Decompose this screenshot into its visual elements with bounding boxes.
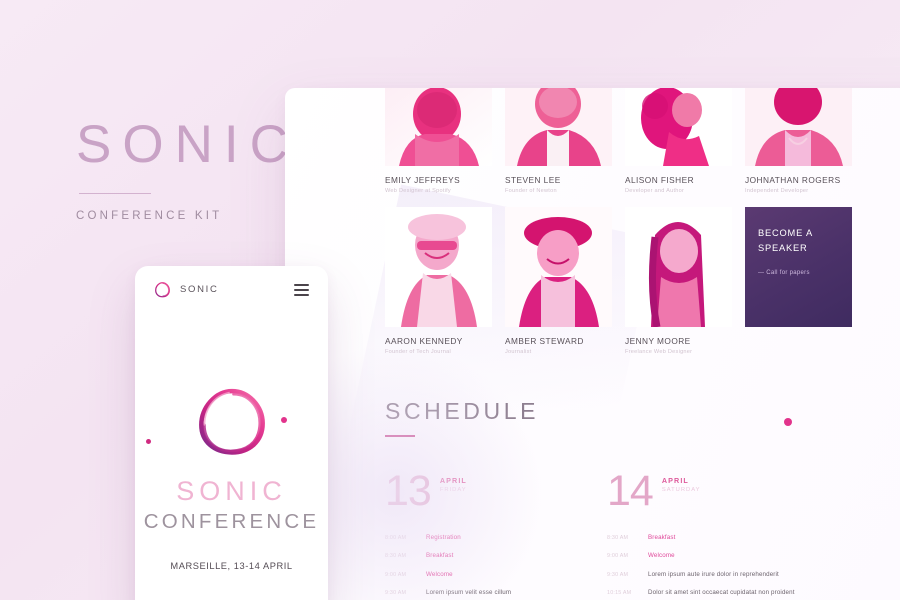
speaker-photo <box>385 207 492 327</box>
speaker-photo <box>745 88 852 166</box>
phone-hero-location: MARSEILLE, 13-14 APRIL <box>135 561 328 571</box>
desktop-mockup-panel: EMILY JEFFREYS Web Designer at Spotify S… <box>285 88 900 600</box>
schedule-day-header: 13 APRIL FRIDAY <box>385 472 610 512</box>
schedule-item-time: 9:30 AM <box>385 590 426 596</box>
speaker-card[interactable]: JOHNATHAN ROGERS Independent Developer <box>745 88 852 194</box>
brand-title: SONIC <box>76 118 316 171</box>
brand-divider <box>79 193 151 194</box>
speakers-row-2: AARON KENNEDY Founder of Tech Journal AM… <box>385 207 900 355</box>
phone-hero-title: SONIC CONFERENCE <box>135 478 328 534</box>
brand-block: SONIC CONFERENCE KIT <box>76 118 316 222</box>
speaker-role: Freelance Web Designer <box>625 349 732 355</box>
speaker-name: AARON KENNEDY <box>385 336 492 346</box>
sonic-ring-large-icon <box>193 385 271 457</box>
speaker-name: JENNY MOORE <box>625 336 732 346</box>
schedule-day-number: 14 <box>607 472 653 512</box>
schedule-item-title: Lorem ipsum aute irure dolor in reprehen… <box>648 571 779 578</box>
schedule-section: SCHEDULE 13 APRIL FRIDAY 8:00 AM Registr… <box>385 398 900 600</box>
schedule-day: 13 APRIL FRIDAY 8:00 AM Registration 8:3… <box>385 472 610 600</box>
hamburger-menu-icon[interactable] <box>294 284 309 296</box>
schedule-item-time: 8:30 AM <box>607 535 648 541</box>
become-a-speaker-title: BECOME A SPEAKER <box>758 226 839 257</box>
schedule-day-header: 14 APRIL SATURDAY <box>607 472 832 512</box>
speaker-photo <box>625 207 732 327</box>
schedule-item-title: Welcome <box>426 571 453 578</box>
phone-hero-line1: SONIC <box>135 478 328 505</box>
schedule-item-time: 8:30 AM <box>385 553 426 559</box>
schedule-item-time: 10:15 AM <box>607 590 648 596</box>
brand-subtitle: CONFERENCE KIT <box>76 210 316 222</box>
speakers-row-1: EMILY JEFFREYS Web Designer at Spotify S… <box>385 88 900 194</box>
speaker-role: Independent Developer <box>745 188 852 194</box>
speaker-card[interactable]: AARON KENNEDY Founder of Tech Journal <box>385 207 492 355</box>
speaker-role: Founder of Newton <box>505 188 612 194</box>
speaker-name: EMILY JEFFREYS <box>385 175 492 185</box>
schedule-item-title: Welcome <box>648 552 675 559</box>
schedule-day-meta: APRIL SATURDAY <box>662 476 701 493</box>
schedule-item[interactable]: 8:30 AM Breakfast <box>385 552 610 559</box>
schedule-item-title: Dolor sit amet sint occaecat cupidatat n… <box>648 589 795 596</box>
speaker-name: STEVEN LEE <box>505 175 612 185</box>
speaker-role: Web Designer at Spotify <box>385 188 492 194</box>
schedule-days: 13 APRIL FRIDAY 8:00 AM Registration 8:3… <box>385 472 900 600</box>
speaker-card[interactable]: EMILY JEFFREYS Web Designer at Spotify <box>385 88 492 194</box>
portrait-icon <box>385 207 492 327</box>
schedule-item-time: 9:30 AM <box>607 572 648 578</box>
portrait-icon <box>625 207 732 327</box>
phone-header: SONIC <box>135 266 328 313</box>
phone-mockup: SONIC <box>135 266 328 600</box>
schedule-item[interactable]: 9:30 AM Lorem ipsum velit esse cillum <box>385 589 610 596</box>
speaker-card[interactable]: JENNY MOORE Freelance Web Designer <box>625 207 732 355</box>
schedule-item[interactable]: 9:00 AM Welcome <box>385 571 610 578</box>
schedule-item[interactable]: 8:30 AM Breakfast <box>607 534 832 541</box>
speaker-card[interactable]: STEVEN LEE Founder of Newton <box>505 88 612 194</box>
phone-hero-line2: CONFERENCE <box>135 510 328 534</box>
phone-hero: SONIC CONFERENCE MARSEILLE, 13-14 APRIL <box>135 313 328 600</box>
schedule-day-weekday: SATURDAY <box>662 487 701 493</box>
speaker-name: ALISON FISHER <box>625 175 732 185</box>
accent-dot <box>784 418 792 426</box>
become-a-speaker-card[interactable]: BECOME A SPEAKER — Call for papers <box>745 207 852 327</box>
schedule-item-title: Registration <box>426 534 461 541</box>
schedule-item-title: Lorem ipsum velit esse cillum <box>426 589 511 596</box>
become-a-speaker-subtitle: — Call for papers <box>758 270 839 276</box>
speaker-name: AMBER STEWARD <box>505 336 612 346</box>
portrait-icon <box>745 88 852 166</box>
schedule-day-number: 13 <box>385 472 431 512</box>
accent-dot <box>281 417 287 423</box>
speaker-photo <box>625 88 732 166</box>
schedule-day-meta: APRIL FRIDAY <box>440 476 467 493</box>
schedule-item-title: Breakfast <box>648 534 676 541</box>
speaker-card[interactable]: AMBER STEWARD Journalist <box>505 207 612 355</box>
portrait-icon <box>505 207 612 327</box>
schedule-item[interactable]: 9:30 AM Lorem ipsum aute irure dolor in … <box>607 571 832 578</box>
schedule-item-title: Breakfast <box>426 552 454 559</box>
schedule-item[interactable]: 9:00 AM Welcome <box>607 552 832 559</box>
speakers-grid: EMILY JEFFREYS Web Designer at Spotify S… <box>385 88 900 355</box>
schedule-heading-underline <box>385 435 415 437</box>
schedule-item[interactable]: 8:00 AM Registration <box>385 534 610 541</box>
schedule-day-month: APRIL <box>662 476 701 485</box>
schedule-item-time: 9:00 AM <box>607 553 648 559</box>
portrait-icon <box>505 88 612 166</box>
speaker-role: Developer and Author <box>625 188 732 194</box>
schedule-item[interactable]: 10:15 AM Dolor sit amet sint occaecat cu… <box>607 589 832 596</box>
speaker-card[interactable]: ALISON FISHER Developer and Author <box>625 88 732 194</box>
speaker-photo <box>505 207 612 327</box>
schedule-item-time: 8:00 AM <box>385 535 426 541</box>
speaker-photo <box>385 88 492 166</box>
sonic-ring-icon[interactable] <box>154 281 171 298</box>
accent-dot <box>146 439 151 444</box>
speaker-role: Founder of Tech Journal <box>385 349 492 355</box>
speaker-role: Journalist <box>505 349 612 355</box>
schedule-day-weekday: FRIDAY <box>440 487 467 493</box>
schedule-item-list: 8:00 AM Registration 8:30 AM Breakfast 9… <box>385 534 610 600</box>
schedule-item-list: 8:30 AM Breakfast 9:00 AM Welcome 9:30 A… <box>607 534 832 600</box>
schedule-day-month: APRIL <box>440 476 467 485</box>
schedule-item-time: 9:00 AM <box>385 572 426 578</box>
schedule-heading: SCHEDULE <box>385 398 900 425</box>
portrait-icon <box>625 88 732 166</box>
portrait-icon <box>385 88 492 166</box>
schedule-day: 14 APRIL SATURDAY 8:30 AM Breakfast 9:00… <box>607 472 832 600</box>
speaker-name: JOHNATHAN ROGERS <box>745 175 852 185</box>
speaker-photo <box>505 88 612 166</box>
phone-brand-label: SONIC <box>180 284 219 295</box>
